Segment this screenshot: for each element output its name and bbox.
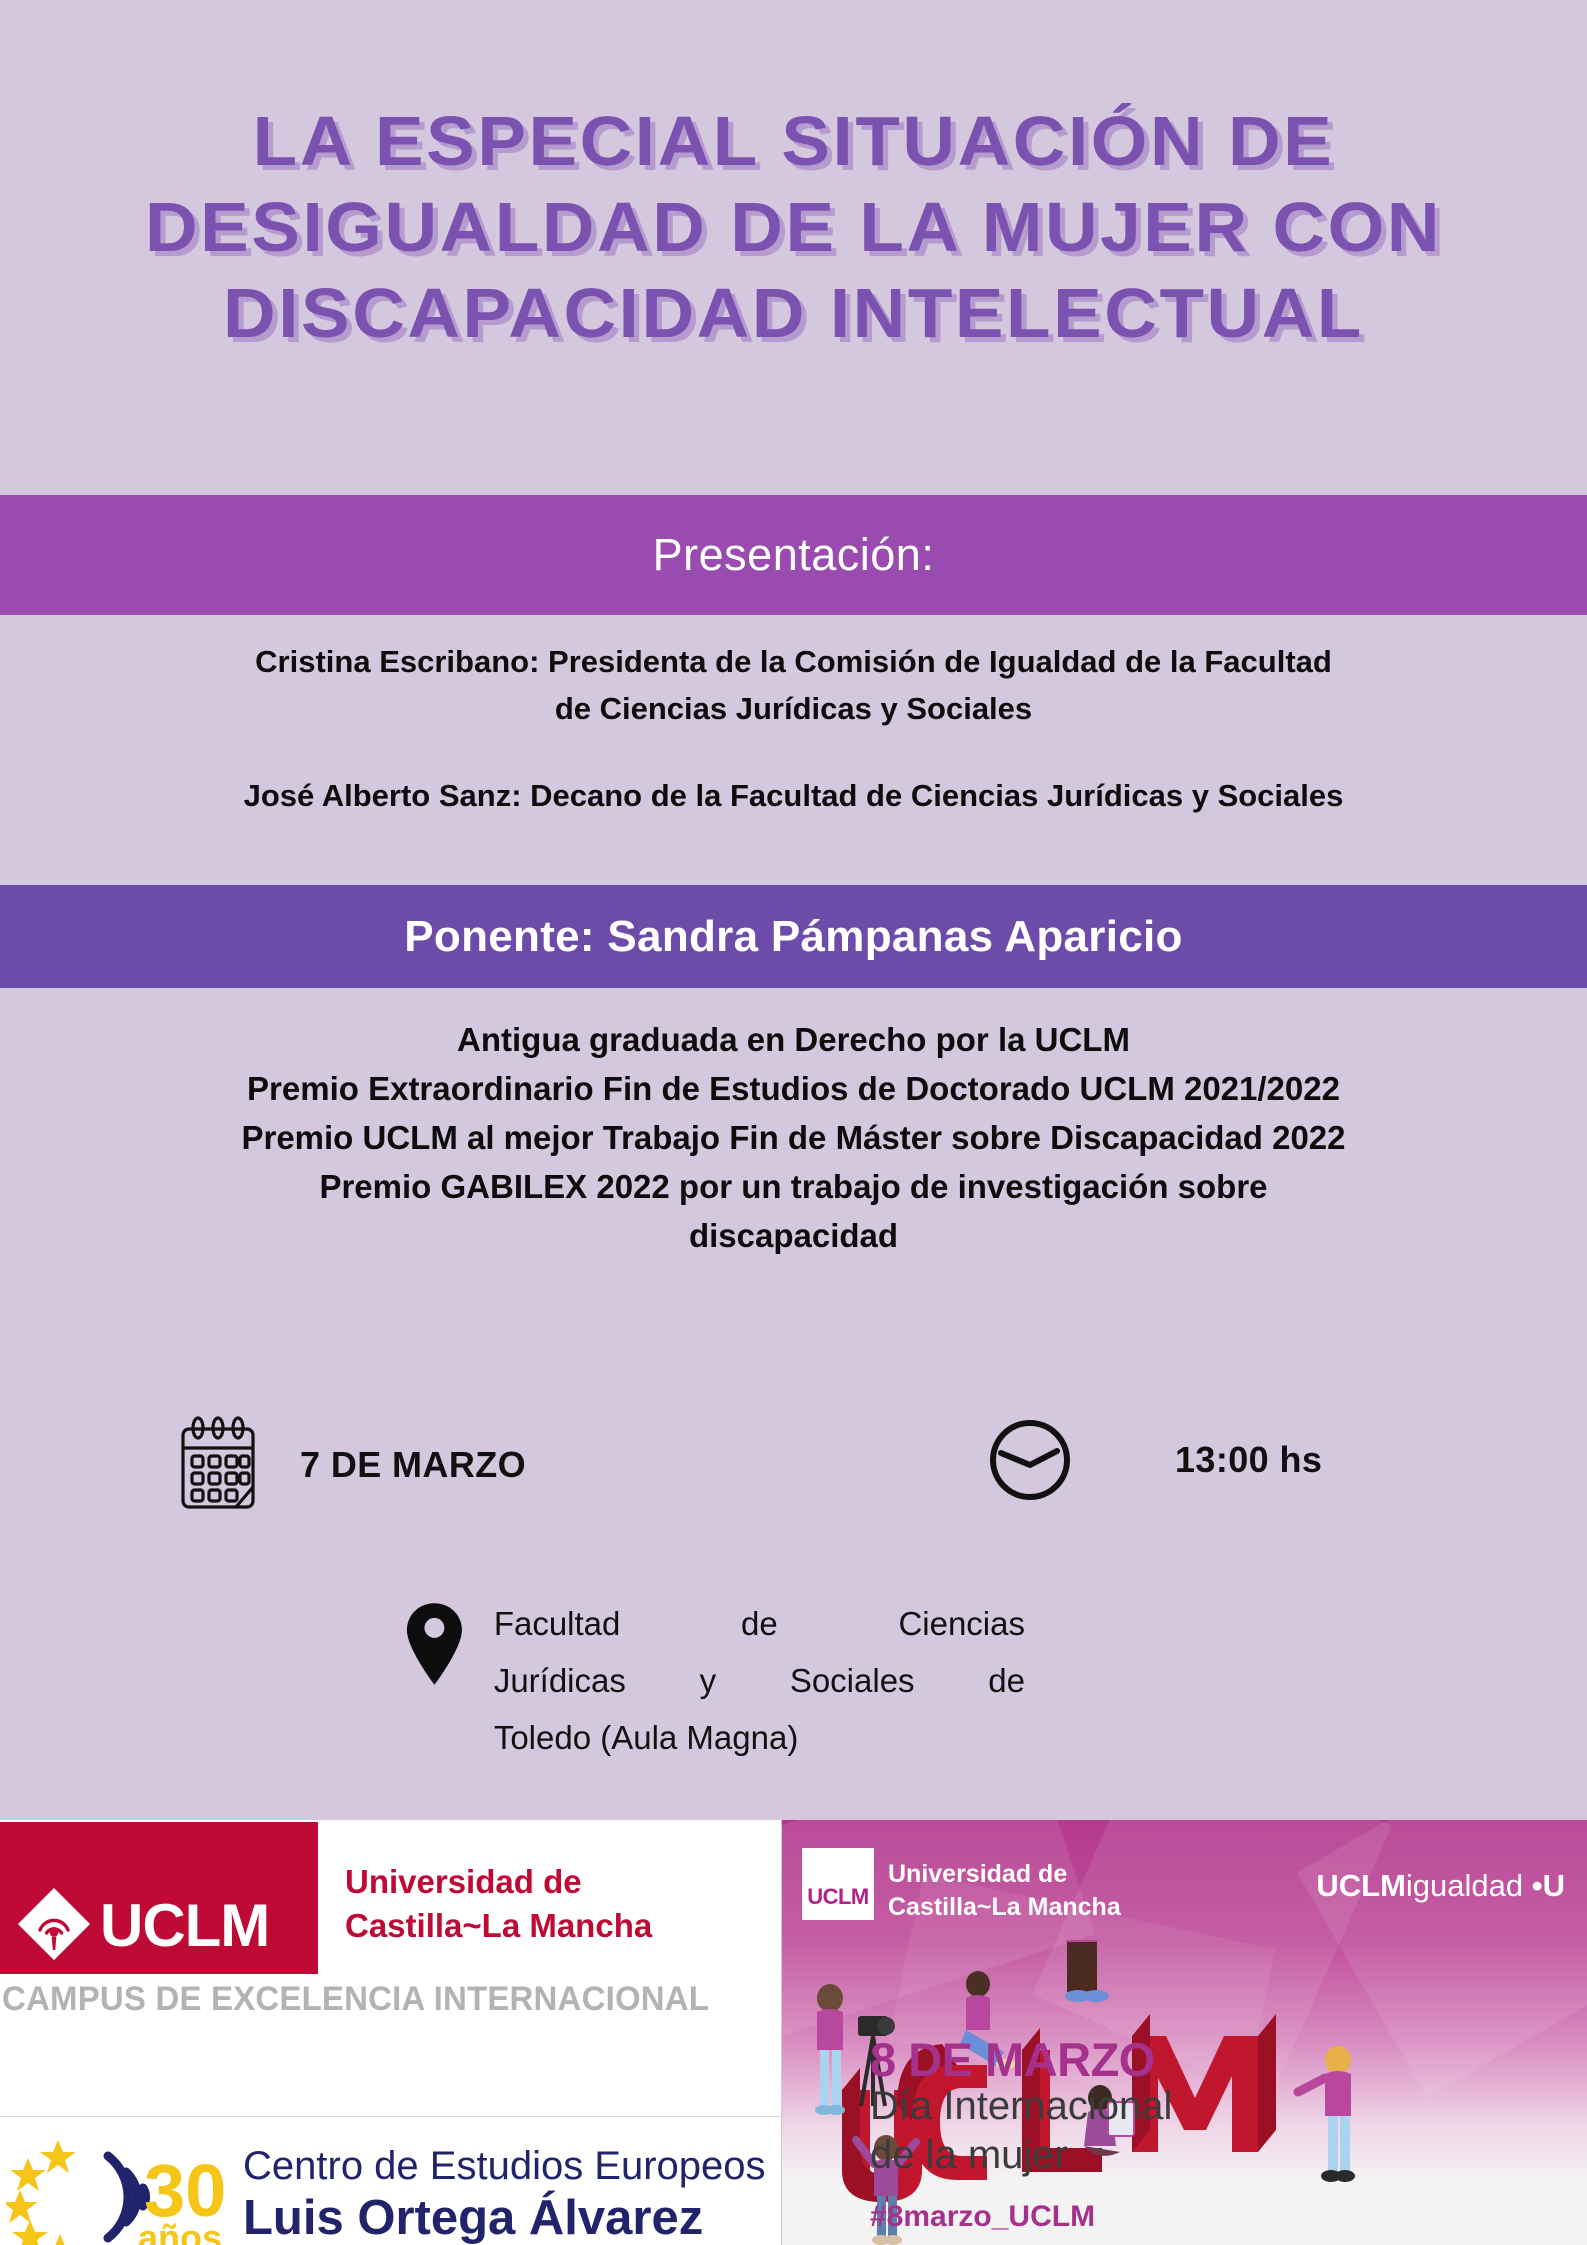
banner-subtitle: Día Internacional de la mujer: [870, 2082, 1172, 2180]
bio-line-2: Premio Extraordinario Fin de Estudios de…: [20, 1064, 1567, 1113]
svg-text:años: años: [138, 2217, 222, 2245]
clock-icon: [985, 1415, 1075, 1505]
igualdad-light-part: igualdad: [1406, 1868, 1523, 1903]
banner-headline: 8 DE MARZO: [870, 2032, 1155, 2087]
uclm-name-line-2: Castilla~La Mancha: [345, 1904, 652, 1948]
event-poster: LA ESPECIAL SITUACIÓN DE DESIGUALDAD DE …: [0, 0, 1587, 2245]
banner-uclm-name: Universidad de Castilla~La Mancha: [888, 1858, 1121, 1924]
uclm-wordmark: UCLM: [100, 1891, 269, 1960]
presenter-spacer: [55, 732, 1532, 772]
presenter-line-3: José Alberto Sanz: Decano de la Facultad…: [55, 772, 1532, 819]
banner-subtitle-line-2: de la mujer: [870, 2131, 1172, 2180]
speaker-bio: Antigua graduada en Derecho por la UCLM …: [20, 1015, 1567, 1260]
title-line-1: LA ESPECIAL SITUACIÓN DE: [0, 98, 1587, 184]
calendar-icon: [178, 1415, 258, 1515]
figure-megaphone: [1016, 1940, 1130, 2002]
presentation-band: Presentación:: [0, 495, 1587, 615]
speaker-band: Ponente: Sandra Pámpanas Aparicio: [0, 885, 1587, 988]
event-location: Facultad de Ciencias Jurídicas y Sociale…: [494, 1595, 1025, 1766]
footer-logos-left: UCLM Universidad de Castilla~La Mancha C…: [0, 1820, 781, 2245]
uclm-university-name: Universidad de Castilla~La Mancha: [345, 1860, 652, 1948]
event-date: 7 DE MARZO: [300, 1444, 526, 1486]
time-row: 13:00 hs: [985, 1415, 1322, 1505]
location-line-3: Toledo (Aula Magna): [494, 1709, 1025, 1766]
location-pin-icon: [405, 1599, 464, 1689]
presenter-line-2: de Ciencias Jurídicas y Sociales: [55, 685, 1532, 732]
date-row: 7 DE MARZO: [178, 1415, 526, 1515]
igualdad-u-icon: •U: [1532, 1868, 1565, 1903]
cee-line-1: Centro de Estudios Europeos: [243, 2142, 766, 2190]
igualdad-bold-part: UCLM: [1316, 1868, 1406, 1903]
bio-line-3: Premio UCLM al mejor Trabajo Fin de Mást…: [20, 1113, 1567, 1162]
cee-logo-text: Centro de Estudios Europeos Luis Ortega …: [243, 2142, 766, 2245]
cee-line-2: Luis Ortega Álvarez: [243, 2190, 766, 2245]
footer-divider: [0, 2116, 781, 2117]
bio-line-4: Premio GABILEX 2022 por un trabajo de in…: [20, 1162, 1567, 1211]
banner-uclm-name-line-2: Castilla~La Mancha: [888, 1891, 1121, 1924]
figure-standing-right: [1298, 2046, 1355, 2182]
footer: UCLM Universidad de Castilla~La Mancha C…: [0, 1820, 1587, 2245]
presentation-band-label: Presentación:: [653, 529, 935, 581]
speaker-band-label: Ponente: Sandra Pámpanas Aparicio: [404, 912, 1182, 962]
uclm-fingerprint-icon: [18, 1888, 90, 1960]
banner-hashtag: #8marzo_UCLM: [870, 2200, 1095, 2234]
location-line-1: Facultad de Ciencias: [494, 1595, 1025, 1652]
uclm-campus-tagline: CAMPUS DE EXCELENCIA INTERNACIONAL: [2, 1980, 709, 2019]
uclm-name-line-1: Universidad de: [345, 1860, 652, 1904]
title-line-3: DISCAPACIDAD INTELECTUAL: [0, 270, 1587, 356]
banner-uclm-logo: UCLM: [802, 1848, 874, 1920]
page-title: LA ESPECIAL SITUACIÓN DE DESIGUALDAD DE …: [0, 98, 1587, 356]
cee-30-anos-icon: 30 años: [100, 2138, 240, 2245]
banner-uclm-name-line-1: Universidad de: [888, 1858, 1121, 1891]
presenters-list: Cristina Escribano: Presidenta de la Com…: [55, 638, 1532, 819]
location-line-2: Jurídicas y Sociales de: [494, 1652, 1025, 1709]
bio-line-1: Antigua graduada en Derecho por la UCLM: [20, 1015, 1567, 1064]
title-line-2: DESIGUALDAD DE LA MUJER CON: [0, 184, 1587, 270]
bio-line-5: discapacidad: [20, 1211, 1567, 1260]
banner-uclm-wordmark: UCLM: [807, 1884, 869, 1910]
event-time: 13:00 hs: [1175, 1439, 1322, 1481]
banner-subtitle-line-1: Día Internacional: [870, 2082, 1172, 2131]
8-march-banner: UCLM Universidad de Castilla~La Mancha U…: [782, 1820, 1587, 2245]
location-row: Facultad de Ciencias Jurídicas y Sociale…: [405, 1595, 1025, 1766]
presenter-line-1: Cristina Escribano: Presidenta de la Com…: [55, 638, 1532, 685]
uclm-logo: UCLM: [0, 1822, 318, 1974]
uclm-igualdad-logo: UCLMigualdad •U: [1316, 1868, 1565, 1904]
